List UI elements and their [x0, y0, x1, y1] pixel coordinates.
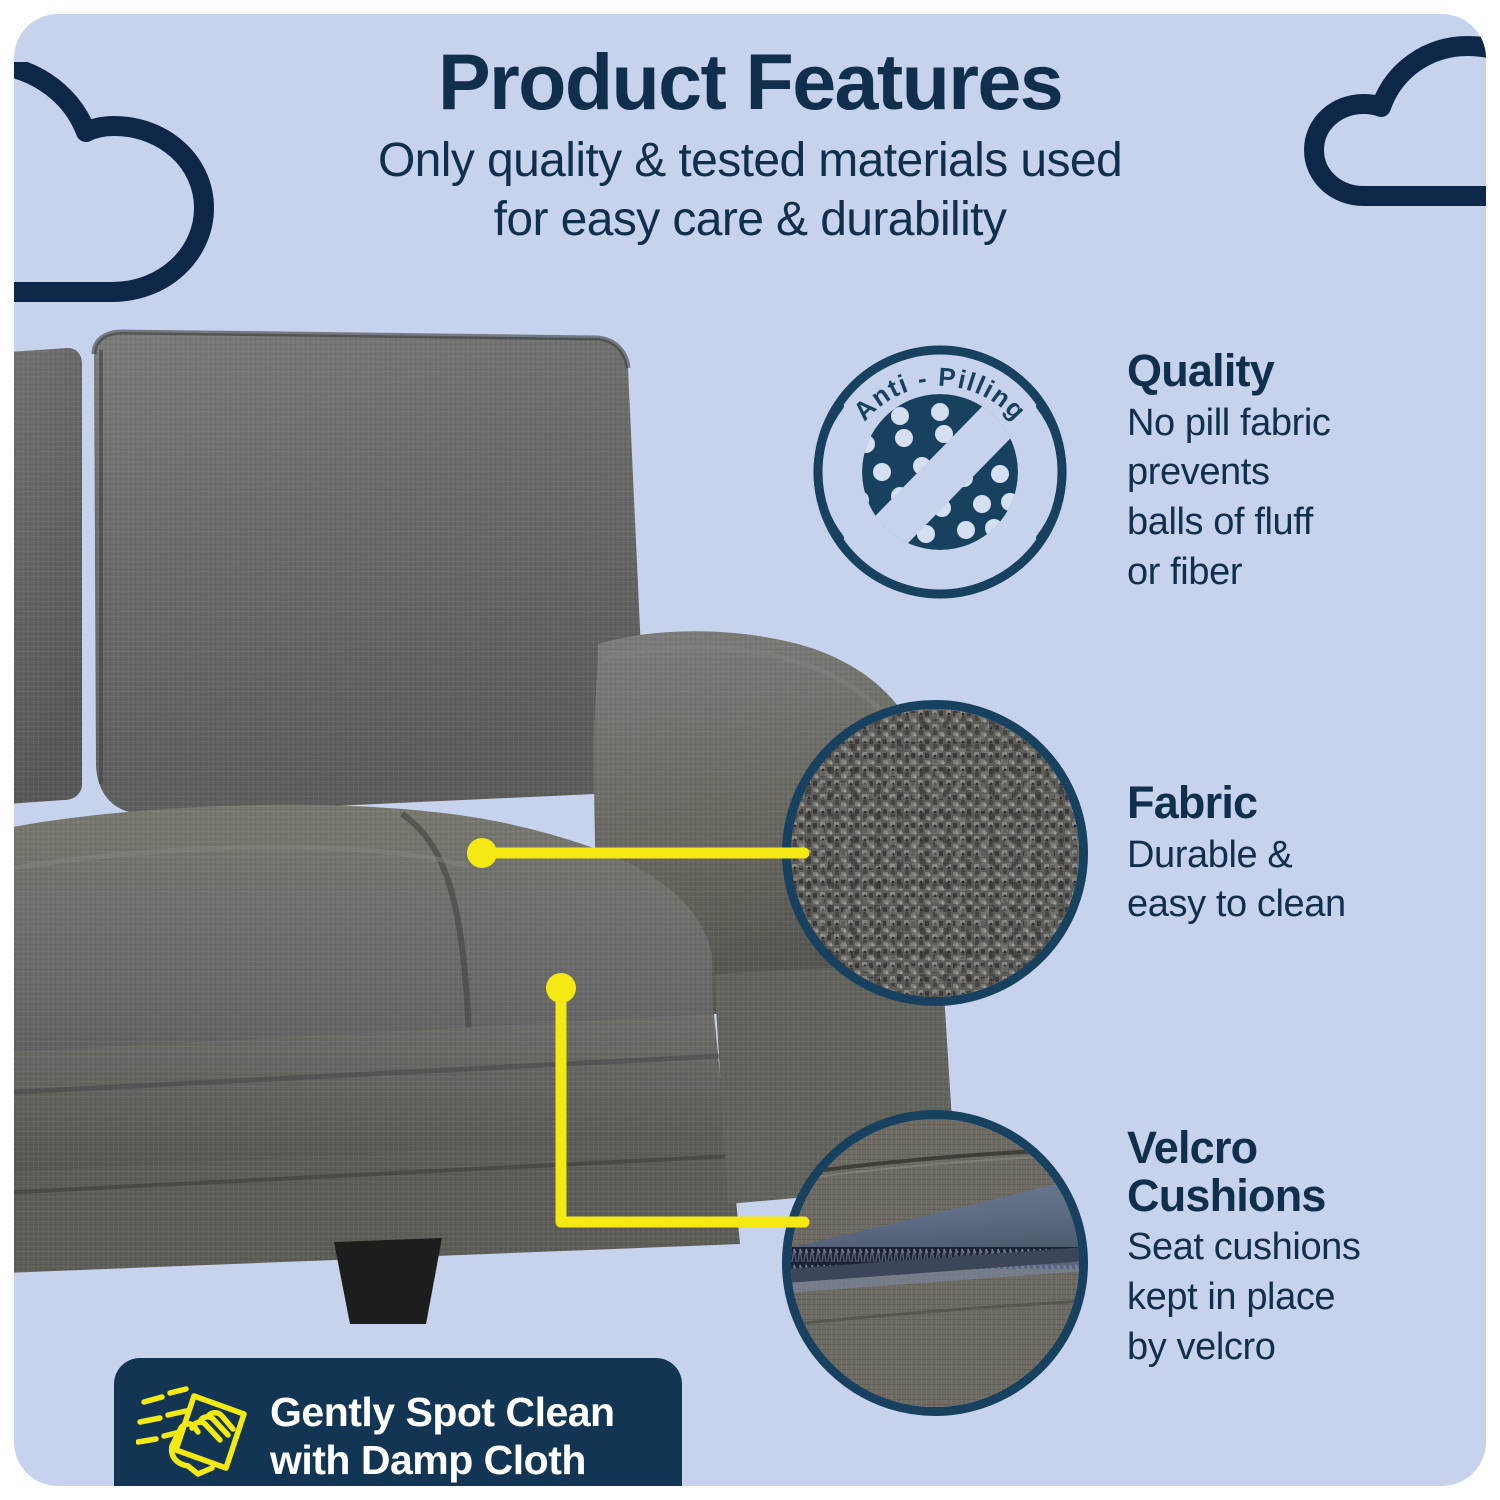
feature-velcro-body-line-2: kept in place	[1127, 1273, 1457, 1323]
cloud-left-decoration	[14, 62, 272, 317]
fabric-closeup-circle	[782, 700, 1088, 1006]
spot-clean-line-1: Gently Spot Clean	[270, 1389, 615, 1437]
feature-fabric-body-line-2: easy to clean	[1127, 880, 1457, 930]
feature-fabric-title: Fabric	[1127, 779, 1457, 827]
spot-clean-line-2: with Damp Cloth	[270, 1437, 615, 1485]
infographic-canvas: Product Features Only quality & tested m…	[14, 14, 1486, 1486]
feature-fabric-body: Durable & easy to clean	[1127, 831, 1457, 931]
feature-quality-body-line-2: prevents	[1127, 448, 1457, 498]
feature-quality-body-line-1: No pill fabric	[1127, 399, 1457, 449]
feature-velcro-title-line-2: Cushions	[1127, 1172, 1457, 1220]
feature-velcro-body: Seat cushions kept in place by velcro	[1127, 1223, 1457, 1372]
feature-velcro-body-line-3: by velcro	[1127, 1323, 1457, 1373]
sofa-leg	[334, 1238, 442, 1324]
spot-clean-label: Gently Spot Clean with Damp Cloth	[270, 1389, 615, 1485]
feature-fabric-body-line-1: Durable &	[1127, 831, 1457, 881]
feature-quality: Quality No pill fabric prevents balls of…	[1127, 347, 1457, 598]
feature-quality-body: No pill fabric prevents balls of fluff o…	[1127, 399, 1457, 598]
feature-velcro-body-line-1: Seat cushions	[1127, 1223, 1457, 1273]
cloud-outline-icon	[14, 299, 272, 316]
velcro-closeup-circle	[782, 1110, 1088, 1416]
feature-velcro-title-line-1: Velcro	[1127, 1124, 1457, 1172]
feature-fabric: Fabric Durable & easy to clean	[1127, 779, 1457, 930]
cloud-right-decoration	[1300, 36, 1486, 221]
feature-velcro-title: Velcro Cushions	[1127, 1124, 1457, 1219]
cloud-outline-icon	[1300, 203, 1486, 220]
hand-wiping-cloth-icon	[136, 1382, 254, 1487]
feature-quality-body-line-3: balls of fluff	[1127, 498, 1457, 548]
feature-quality-title: Quality	[1127, 347, 1457, 395]
feature-quality-body-line-4: or fiber	[1127, 548, 1457, 598]
spot-clean-banner: Gently Spot Clean with Damp Cloth	[114, 1358, 682, 1486]
anti-pilling-badge: Anti - Pilling	[804, 332, 1076, 604]
feature-velcro: Velcro Cushions Seat cushions kept in pl…	[1127, 1124, 1457, 1373]
infographic-page: Product Features Only quality & tested m…	[0, 0, 1500, 1500]
